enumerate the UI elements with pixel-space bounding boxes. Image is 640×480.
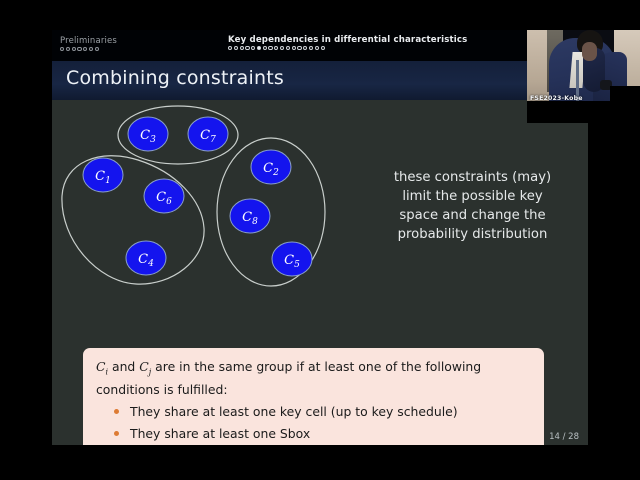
page-number: 14 / 28 <box>549 432 579 442</box>
header-section-preliminaries-label: Preliminaries <box>60 36 117 46</box>
webcam-dark-region-bottom <box>527 101 640 123</box>
webcam-name-label: FSE2023-Kobe <box>530 95 583 102</box>
webcam-video-frame <box>527 30 640 123</box>
side-annotation-line-3: space and change the <box>370 206 575 225</box>
slide-title-bar: Combining constraints <box>52 61 588 100</box>
progress-dot[interactable] <box>263 46 267 50</box>
callout-conjunction: and <box>108 359 139 374</box>
callout-intro-rest: are in the same group if at least one of… <box>96 359 481 397</box>
header-section-key-dependencies-label: Key dependencies in differential charact… <box>228 35 467 45</box>
constraint-node-C5[interactable]: C5 <box>272 242 312 276</box>
constraint-node-C4[interactable]: C4 <box>126 241 166 275</box>
definition-callout-box: Ci and Cj are in the same group if at le… <box>83 348 544 445</box>
constraint-node-C7[interactable]: C7 <box>188 117 228 151</box>
side-annotation-line-1: these constraints (may) <box>370 168 575 187</box>
list-item: They share at least one Sbox <box>114 425 531 443</box>
constraint-node-C8[interactable]: C8 <box>230 199 270 233</box>
progress-dot[interactable] <box>89 47 93 51</box>
constraint-group-diagram-svg: C3 C7 C1 C6 <box>52 100 397 330</box>
page-title: Combining constraints <box>66 67 284 89</box>
progress-dot[interactable] <box>77 47 81 51</box>
constraint-node-C3[interactable]: C3 <box>128 117 168 151</box>
presentation-slide: Preliminaries Key dependencies in differ… <box>52 30 588 445</box>
progress-dot[interactable] <box>286 46 290 50</box>
progress-dot[interactable] <box>245 46 249 50</box>
math-var-ci: Ci <box>96 359 108 374</box>
progress-dot[interactable] <box>83 47 87 51</box>
webcam-pip-overlay[interactable]: FSE2023-Kobe <box>527 30 640 123</box>
header-section-key-dependencies[interactable]: Key dependencies in differential charact… <box>228 35 467 50</box>
callout-intro-paragraph: Ci and Cj are in the same group if at le… <box>96 358 531 398</box>
progress-dot[interactable] <box>309 46 313 50</box>
progress-dot[interactable] <box>274 46 278 50</box>
header-preliminaries-progress-dots[interactable] <box>60 47 117 51</box>
header-section-preliminaries[interactable]: Preliminaries <box>60 36 117 51</box>
progress-dot[interactable] <box>66 47 70 51</box>
progress-dot[interactable] <box>297 46 301 50</box>
constraint-node-C6[interactable]: C6 <box>144 179 184 213</box>
progress-dot[interactable] <box>268 46 272 50</box>
webcam-presenter-hand <box>582 42 597 61</box>
progress-dot[interactable] <box>321 46 325 50</box>
progress-dot[interactable] <box>315 46 319 50</box>
side-annotation-line-4: probability distribution <box>370 225 575 244</box>
slide-body: C3 C7 C1 C6 <box>52 100 588 445</box>
side-annotation-line-2: limit the possible key <box>370 187 575 206</box>
callout-condition-list: They share at least one key cell (up to … <box>96 403 531 442</box>
progress-dot[interactable] <box>303 46 307 50</box>
progress-dot[interactable] <box>292 46 296 50</box>
progress-dot[interactable] <box>228 46 232 50</box>
math-var-cj: Cj <box>139 359 151 374</box>
progress-dot[interactable] <box>234 46 238 50</box>
header-key-dependencies-progress-dots[interactable] <box>228 46 467 50</box>
progress-dot[interactable] <box>60 47 64 51</box>
progress-dot[interactable] <box>72 47 76 51</box>
screen-canvas: Preliminaries Key dependencies in differ… <box>0 0 640 480</box>
progress-dot[interactable] <box>240 46 244 50</box>
constraint-group-diagram: C3 C7 C1 C6 <box>52 100 397 330</box>
slide-header-navbar: Preliminaries Key dependencies in differ… <box>52 30 588 61</box>
list-item: They share at least one key cell (up to … <box>114 403 531 421</box>
constraint-node-C1[interactable]: C1 <box>83 158 123 192</box>
progress-dot[interactable] <box>280 46 284 50</box>
progress-dot[interactable] <box>95 47 99 51</box>
side-annotation-text: these constraints (may) limit the possib… <box>370 168 575 244</box>
progress-dot[interactable] <box>251 46 255 50</box>
progress-dot-current[interactable] <box>257 46 261 50</box>
constraint-node-C2[interactable]: C2 <box>251 150 291 184</box>
math-var-cj-base: C <box>139 359 148 374</box>
